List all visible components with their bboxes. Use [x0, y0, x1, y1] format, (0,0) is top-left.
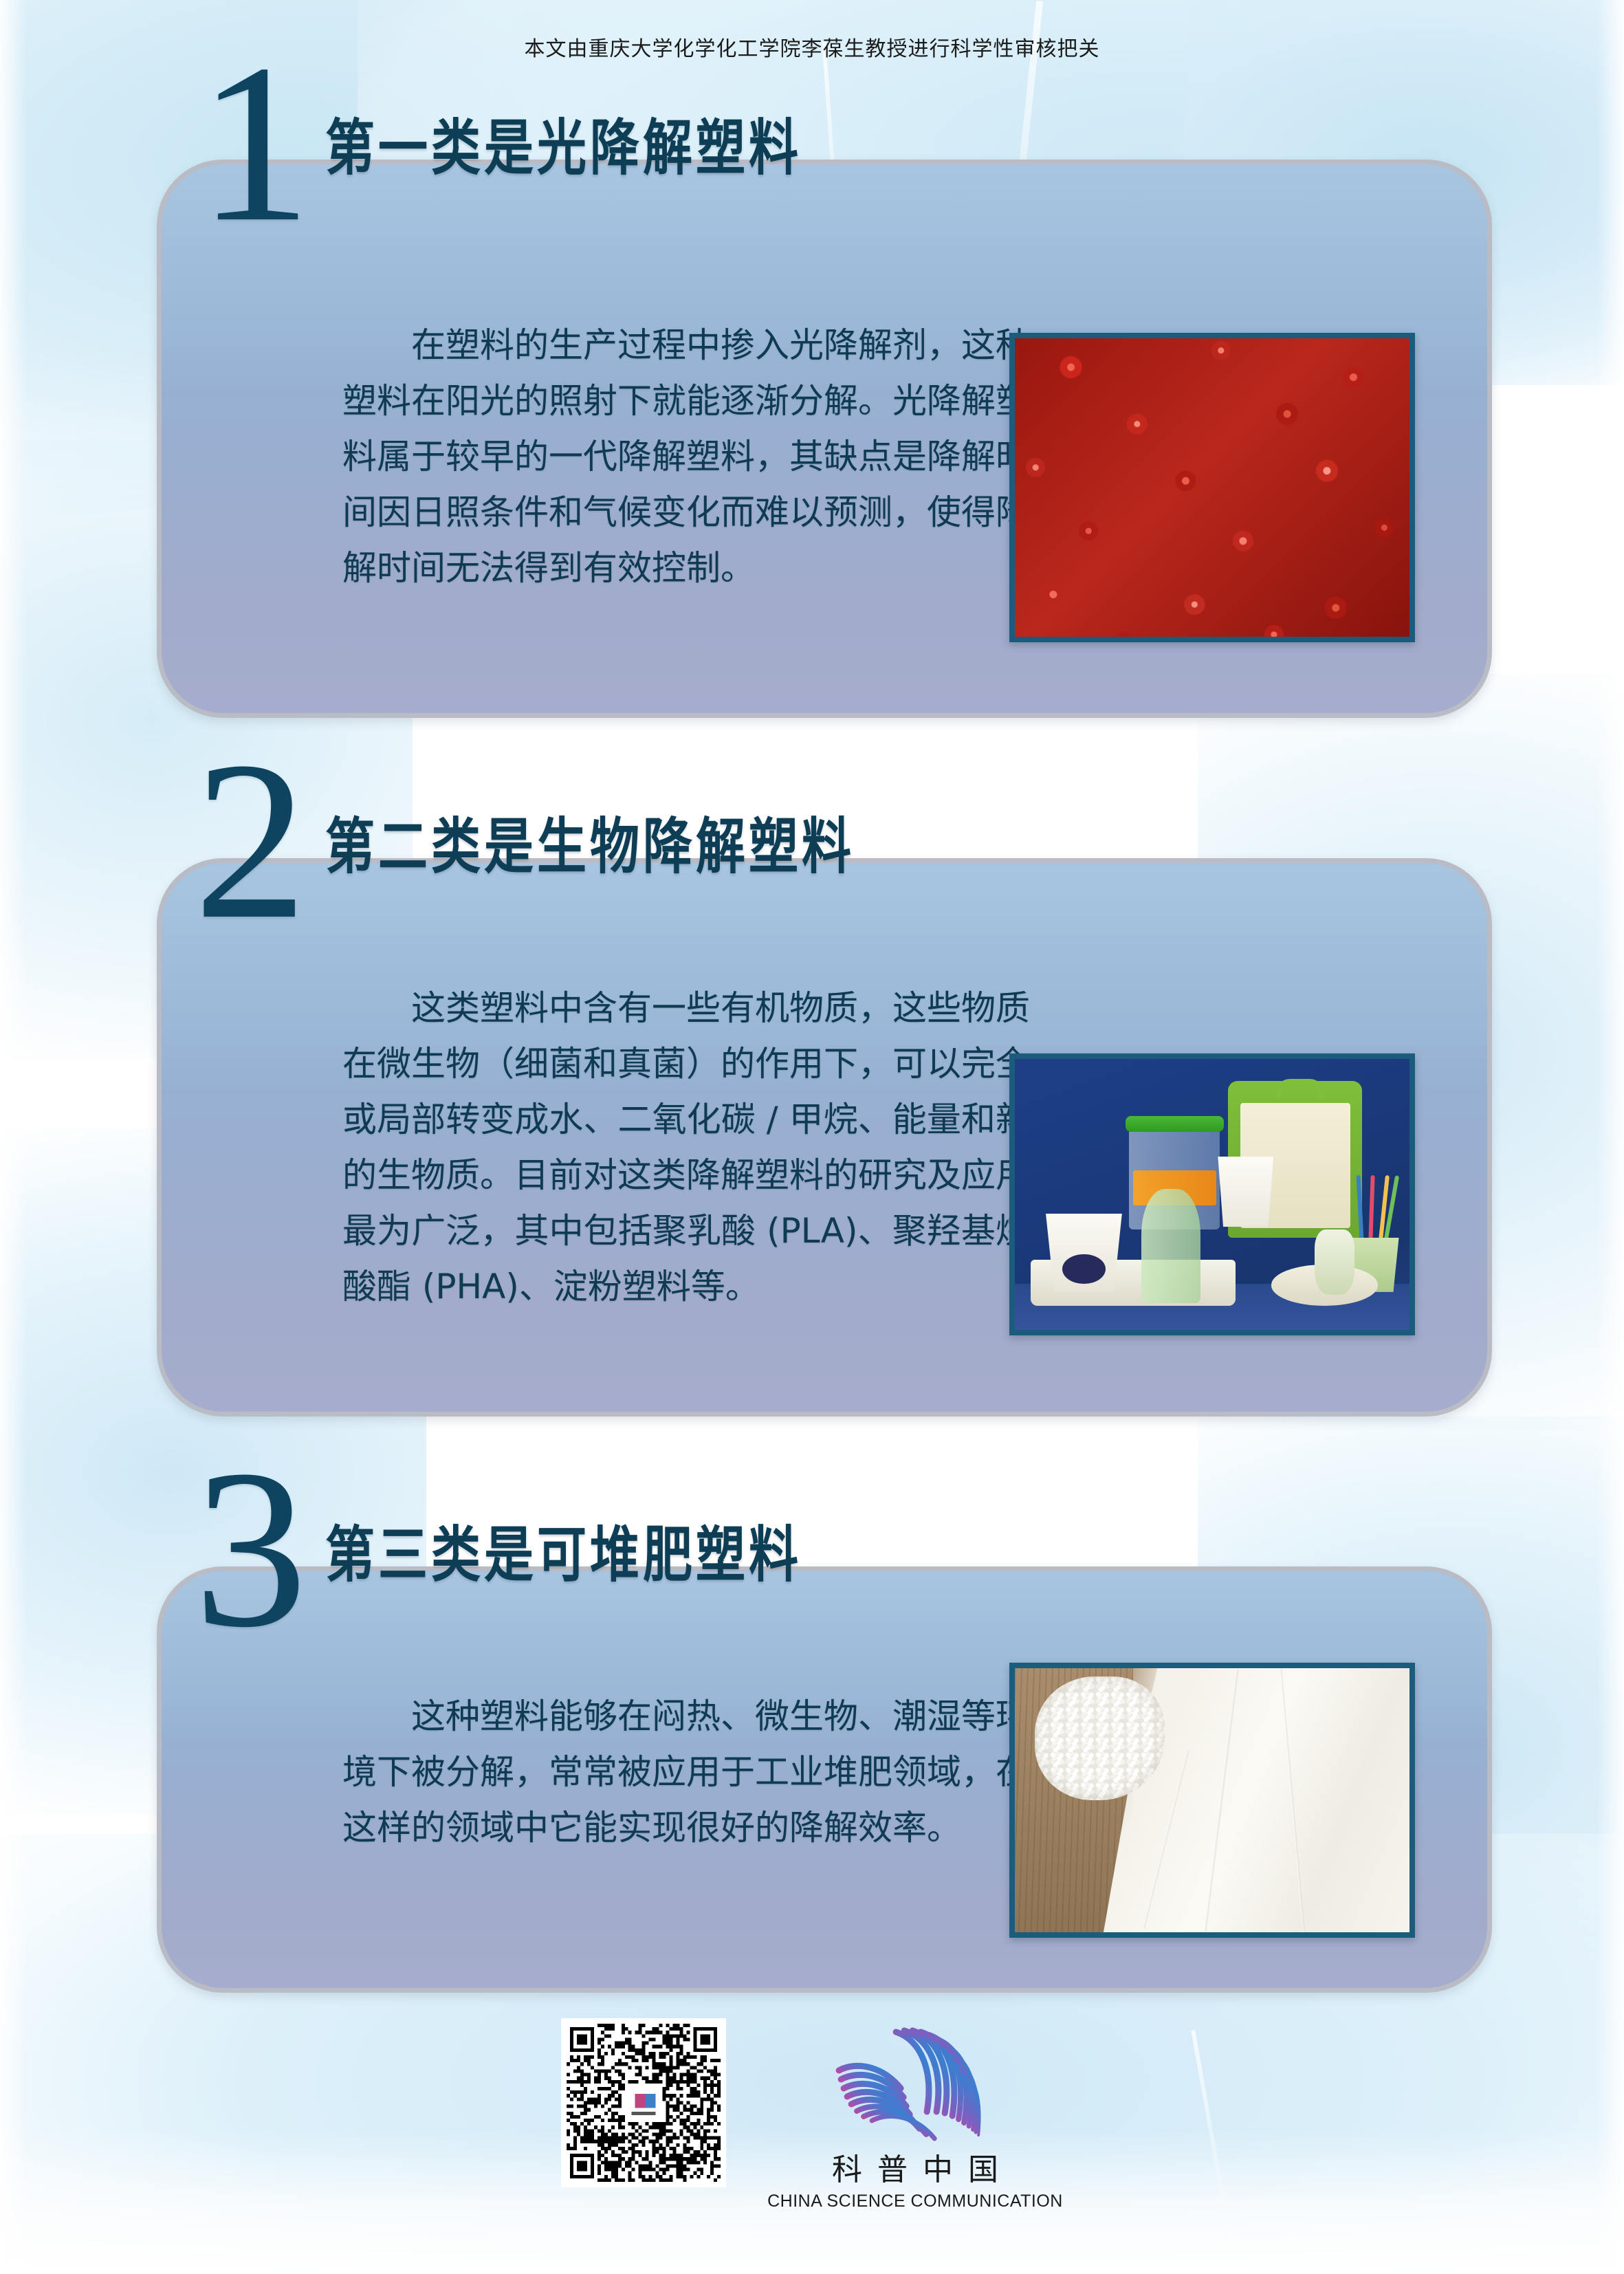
- section-1-body: 在塑料的生产过程中掺入光降解剂，这种塑料在阳光的照射下就能逐渐分解。光降解塑料属…: [342, 318, 1030, 596]
- compostable-film-photo: [1009, 1663, 1415, 1938]
- pitcher: [1315, 1229, 1354, 1295]
- poster-page: 本文由重庆大学化学化工学院李葆生教授进行科学性审核把关 1 第一类是光降解塑料 …: [0, 0, 1624, 2274]
- wash-edge-right: [1596, 0, 1624, 2274]
- section-1: 1 第一类是光降解塑料 在塑料的生产过程中掺入光降解剂，这种塑料在阳光的照射下就…: [157, 160, 1492, 718]
- section-1-title: 第一类是光降解塑料: [325, 98, 802, 186]
- section-2: 2 第二类是生物降解塑料 这类塑料中含有一些有机物质，这些物质在微生物（细菌和真…: [157, 858, 1492, 1417]
- photo-inner: [1015, 1059, 1409, 1330]
- section-3-title: 第三类是可堆肥塑料: [325, 1505, 802, 1593]
- qr-code-canvas: [567, 2024, 721, 2182]
- red-pellets-texture: [1015, 338, 1409, 637]
- cup-logo-badge: [1062, 1254, 1106, 1284]
- section-3-body: 这种塑料能够在闷热、微生物、潮湿等环境下被分解，常常被应用于工业堆肥领域，在这样…: [342, 1689, 1030, 1856]
- photo-inner: [1015, 1668, 1409, 1932]
- white-pellets: [1035, 1676, 1165, 1800]
- footer: 科普中国 CHINA SCIENCE COMMUNICATION: [0, 1985, 1624, 2274]
- section-3-number: 3: [194, 1456, 307, 1643]
- footer-content: 科普中国 CHINA SCIENCE COMMUNICATION: [561, 2018, 1063, 2211]
- section-2-number: 2: [194, 748, 307, 934]
- china-science-communication-logo-icon: [829, 2021, 1001, 2149]
- compost-scene: [1015, 1668, 1409, 1932]
- section-1-number: 1: [198, 51, 311, 237]
- biodegradable-tableware-photo: [1009, 1053, 1415, 1335]
- section-2-title: 第二类是生物降解塑料: [325, 797, 855, 885]
- jar-lid: [1126, 1116, 1225, 1133]
- paper-cup: [1216, 1157, 1275, 1227]
- section-3: 3 第三类是可堆肥塑料 这种塑料能够在闷热、微生物、潮湿等环境下被分解，常常被应…: [157, 1566, 1492, 1993]
- red-plastic-pellets-photo: [1009, 333, 1415, 642]
- wash-edge-left: [0, 0, 28, 2274]
- tableware-scene: [1015, 1059, 1409, 1330]
- brand-name-en: CHINA SCIENCE COMMUNICATION: [767, 2191, 1063, 2211]
- board-handle: [1276, 1079, 1324, 1100]
- green-bottle: [1141, 1189, 1200, 1302]
- qr-code[interactable]: [561, 2018, 726, 2187]
- photo-inner: [1015, 338, 1409, 637]
- section-2-body: 这类塑料中含有一些有机物质，这些物质在微生物（细菌和真菌）的作用下，可以完全或局…: [342, 981, 1030, 1315]
- straw-pink: [1369, 1175, 1375, 1240]
- brand-name-cn: 科普中国: [817, 2145, 1013, 2189]
- brand-lockup: 科普中国 CHINA SCIENCE COMMUNICATION: [767, 2018, 1063, 2211]
